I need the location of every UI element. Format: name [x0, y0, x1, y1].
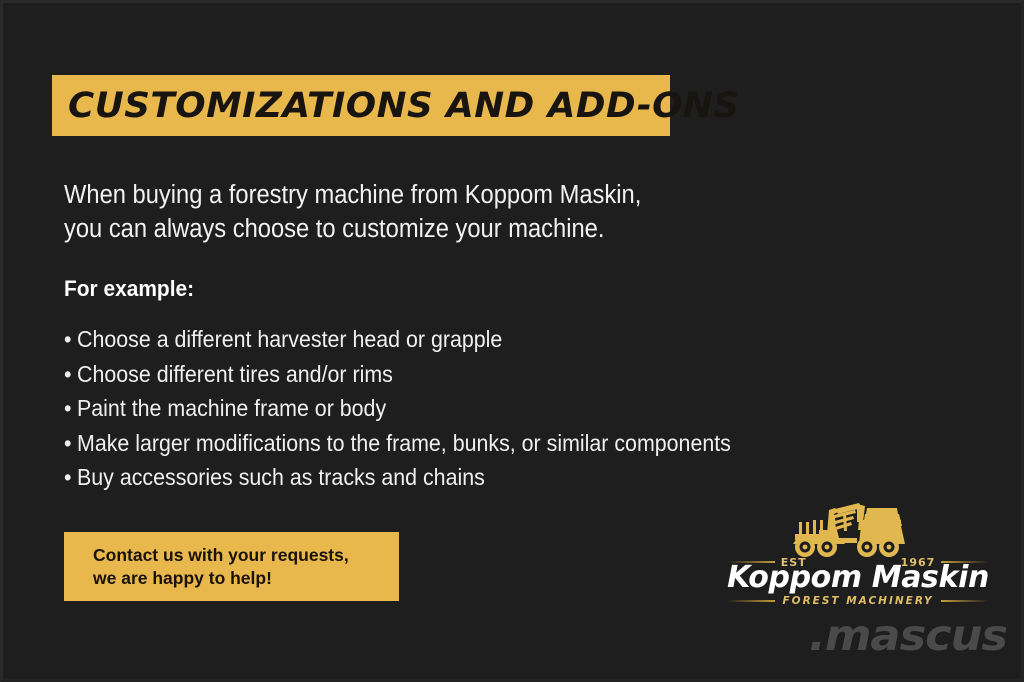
intro-paragraph: When buying a forestry machine from Kopp…	[64, 178, 715, 246]
list-item: • Choose a different harvester head or g…	[64, 322, 771, 357]
list-item-label: Choose a different harvester head or gra…	[77, 326, 502, 352]
logo-tagline: FOREST MACHINERY	[782, 595, 933, 607]
contact-line-2: we are happy to help!	[93, 567, 399, 590]
contact-line-1: Contact us with your requests,	[93, 544, 399, 567]
page-title: CUSTOMIZATIONS AND ADD-ONS	[68, 86, 740, 126]
list-item: • Buy accessories such as tracks and cha…	[64, 460, 771, 495]
list-item: • Choose different tires and/or rims	[64, 357, 771, 392]
list-item: • Paint the machine frame or body	[64, 391, 771, 426]
bullet-icon: •	[64, 426, 71, 461]
slide-canvas: CUSTOMIZATIONS AND ADD-ONS When buying a…	[0, 0, 1024, 682]
list-item-label: Buy accessories such as tracks and chain…	[77, 464, 485, 490]
list-item-label: Choose different tires and/or rims	[77, 361, 393, 387]
logo-tagline-row: FOREST MACHINERY	[727, 594, 989, 608]
title-banner: CUSTOMIZATIONS AND ADD-ONS	[52, 75, 670, 136]
bullet-icon: •	[64, 322, 71, 357]
intro-line-2: you can always choose to customize your …	[64, 212, 715, 246]
contact-cta-box[interactable]: Contact us with your requests, we are ha…	[64, 532, 399, 601]
bullet-icon: •	[64, 357, 71, 392]
list-item-label: Make larger modifications to the frame, …	[77, 430, 731, 456]
logo-tagline-rule-right	[941, 600, 989, 602]
forestry-forwarder-icon	[775, 500, 943, 558]
list-item-label: Paint the machine frame or body	[77, 395, 386, 421]
bullet-icon: •	[64, 391, 71, 426]
bullet-icon: •	[64, 460, 71, 495]
koppom-maskin-logo: EST 1967 Koppom Maskin FOREST MACHINERY	[727, 500, 989, 608]
mascus-watermark: .mascus	[747, 613, 1007, 659]
list-item: • Make larger modifications to the frame…	[64, 426, 771, 461]
logo-company-name: Koppom Maskin	[727, 562, 989, 594]
logo-tagline-rule-left	[727, 600, 775, 602]
intro-line-1: When buying a forestry machine from Kopp…	[64, 178, 715, 212]
for-example-label: For example:	[64, 276, 194, 302]
customization-list: • Choose a different harvester head or g…	[64, 322, 771, 495]
